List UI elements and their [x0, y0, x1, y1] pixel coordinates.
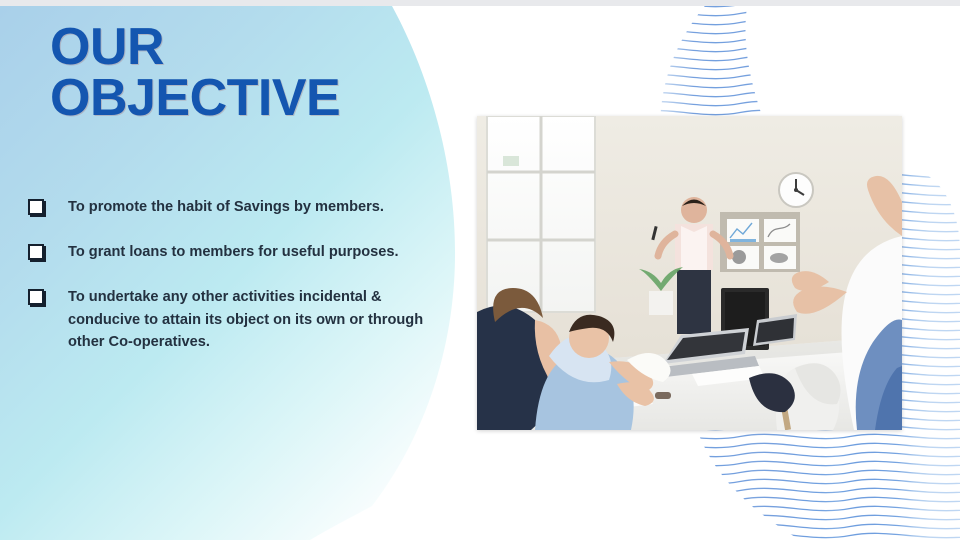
title-line-1: OUR	[50, 22, 340, 73]
slide-title: OUR OBJECTIVE	[50, 22, 340, 124]
checkbox-box-icon	[28, 197, 68, 220]
bullet-text: To grant loans to members for useful pur…	[68, 241, 440, 264]
bullet-text: To undertake any other activities incide…	[68, 286, 440, 354]
list-item: To grant loans to members for useful pur…	[28, 241, 440, 264]
checkbox-box-icon	[28, 287, 68, 310]
top-gray-bar	[0, 0, 960, 6]
checkbox-box-icon	[28, 242, 68, 265]
slide-canvas: OUR OBJECTIVE To promote the habit of Sa…	[0, 0, 960, 540]
objective-bullet-list: To promote the habit of Savings by membe…	[28, 196, 440, 354]
meeting-photo	[477, 116, 902, 430]
list-item: To promote the habit of Savings by membe…	[28, 196, 440, 219]
bullet-text: To promote the habit of Savings by membe…	[68, 196, 440, 219]
title-line-2: OBJECTIVE	[50, 73, 340, 124]
list-item: To undertake any other activities incide…	[28, 286, 440, 354]
